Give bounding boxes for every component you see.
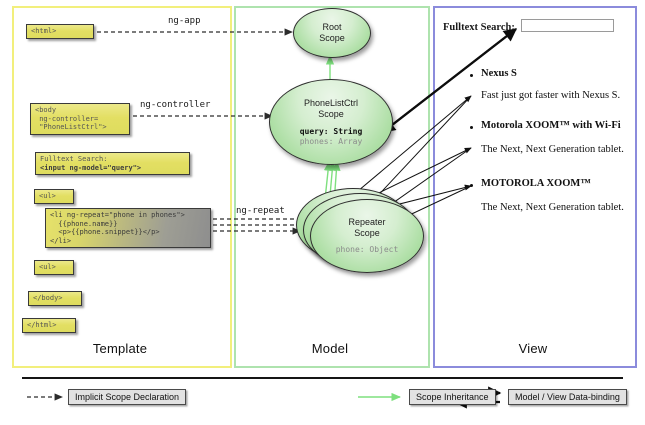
scope-root-line2: Scope	[319, 33, 345, 44]
code-search-line1: Fulltext Search:	[40, 155, 107, 163]
diagram-canvas: <html> <body ng-controller= "PhoneListCt…	[0, 0, 645, 425]
view-item-snippet-1: The Next, Next Generation tablet.	[481, 144, 624, 155]
legend-implicit-scope-declaration: Implicit Scope Declaration	[68, 389, 186, 405]
view-search-label: Fulltext Search:	[443, 22, 515, 33]
label-ng-controller: ng-controller	[140, 100, 210, 110]
panel-template	[12, 6, 232, 368]
legend-divider	[22, 377, 623, 379]
list-bullet	[470, 184, 473, 187]
scope-repeater-line1: Repeater	[348, 217, 385, 228]
code-box-ul-close: <ul>	[34, 260, 74, 275]
code-search-line2: <input ng-model="query">	[40, 164, 141, 172]
code-box-body-close: </body>	[28, 291, 82, 306]
code-box-body-open: <body ng-controller= "PhoneListCtrl">	[30, 103, 130, 135]
list-bullet	[470, 74, 473, 77]
view-item-snippet-0: Fast just got faster with Nexus S.	[481, 90, 620, 101]
code-box-html-close: </html>	[22, 318, 76, 333]
code-box-html-open: <html>	[26, 24, 94, 39]
scope-ctrl-line1: PhoneListCtrl	[304, 98, 358, 109]
scope-root-line1: Root	[322, 22, 341, 33]
code-box-ul-open: <ul>	[34, 189, 74, 204]
legend-scope-inheritance: Scope Inheritance	[409, 389, 496, 405]
code-box-li-repeat: <li ng-repeat="phone in phones"> {{phone…	[45, 208, 211, 248]
view-item-name-0: Nexus S	[481, 68, 517, 79]
scope-repeater-line2: Scope	[354, 228, 380, 239]
legend-model-view-data-binding: Model / View Data-binding	[508, 389, 627, 405]
panel-template-label: Template	[12, 341, 228, 425]
scope-repeater: Repeater Scope phone: Object	[310, 199, 424, 273]
scope-ctrl-line2: Scope	[318, 109, 344, 120]
scope-repeater-prop-phone: phone: Object	[336, 245, 399, 255]
label-ng-repeat: ng-repeat	[236, 206, 285, 216]
label-ng-app: ng-app	[168, 16, 201, 26]
panel-view-label: View	[433, 341, 633, 419]
scope-phonelistctrl: PhoneListCtrl Scope query: String phones…	[269, 79, 393, 165]
view-search-input[interactable]	[521, 19, 614, 32]
code-box-search: Fulltext Search: <input ng-model="query"…	[35, 152, 190, 175]
view-item-name-1: Motorola XOOM™ with Wi-Fi	[481, 120, 621, 131]
panel-model	[234, 6, 430, 368]
scope-root: Root Scope	[293, 8, 371, 58]
scope-ctrl-prop-phones: phones: Array	[300, 137, 363, 147]
list-bullet	[470, 126, 473, 129]
scope-ctrl-prop-query: query: String	[300, 127, 363, 137]
view-item-name-2: MOTOROLA XOOM™	[481, 178, 591, 189]
panel-model-label: Model	[234, 341, 426, 419]
view-item-snippet-2: The Next, Next Generation tablet.	[481, 202, 624, 213]
